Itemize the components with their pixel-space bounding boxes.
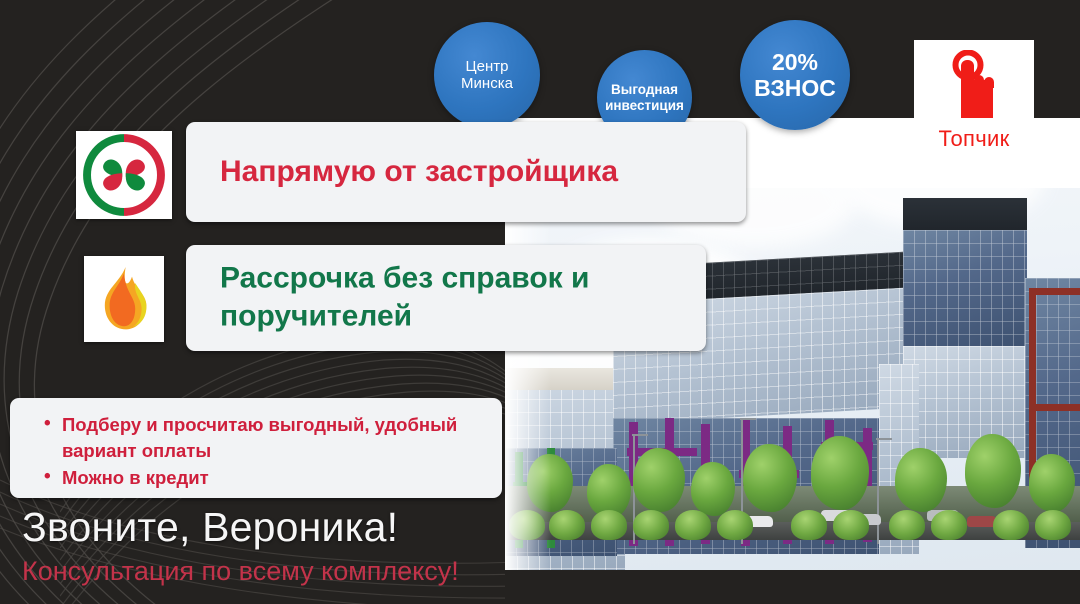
- clover-logo: [76, 131, 172, 219]
- headline-card-secondary: Рассрочка без справок и поручителей: [186, 245, 706, 351]
- bubble-down-line2: ВЗНОС: [754, 75, 836, 101]
- bubble-center-line1: Центр: [466, 58, 509, 75]
- tap-hand-icon: [943, 50, 1005, 124]
- topchik-badge-label: Топчик: [938, 126, 1009, 152]
- benefits-list: Подберу и просчитаю выгодный, удобный ва…: [44, 412, 502, 491]
- bubble-center-line2: Минска: [461, 75, 513, 92]
- cta-subheadline: Консультация по всему комплексу!: [22, 556, 459, 587]
- flame-icon: [84, 256, 164, 342]
- cta-headline: Звоните, Вероника!: [22, 504, 398, 551]
- list-item: Можно в кредит: [44, 465, 502, 491]
- four-leaf-clover-icon: [76, 131, 172, 219]
- headline-card-primary: Напрямую от застройщика: [186, 122, 746, 222]
- headline-secondary: Рассрочка без справок и поручителей: [220, 260, 690, 337]
- bubble-down-line1: 20%: [772, 49, 818, 75]
- benefits-card: Подберу и просчитаю выгодный, удобный ва…: [10, 398, 502, 498]
- headline-primary: Напрямую от застройщика: [220, 153, 618, 191]
- bubble-down-payment: 20% ВЗНОС: [740, 20, 850, 130]
- bubble-invest-line2: инвестиция: [605, 98, 684, 113]
- bubble-center-minsk: Центр Минска: [434, 22, 540, 128]
- list-item: Подберу и просчитаю выгодный, удобный ва…: [44, 412, 502, 465]
- promo-banner: Центр Минска Выгодная инвестиция 20% ВЗН…: [0, 0, 1080, 604]
- topchik-badge: Топчик: [914, 40, 1034, 172]
- bubble-invest-line1: Выгодная: [611, 82, 678, 97]
- flame-logo: [84, 256, 164, 342]
